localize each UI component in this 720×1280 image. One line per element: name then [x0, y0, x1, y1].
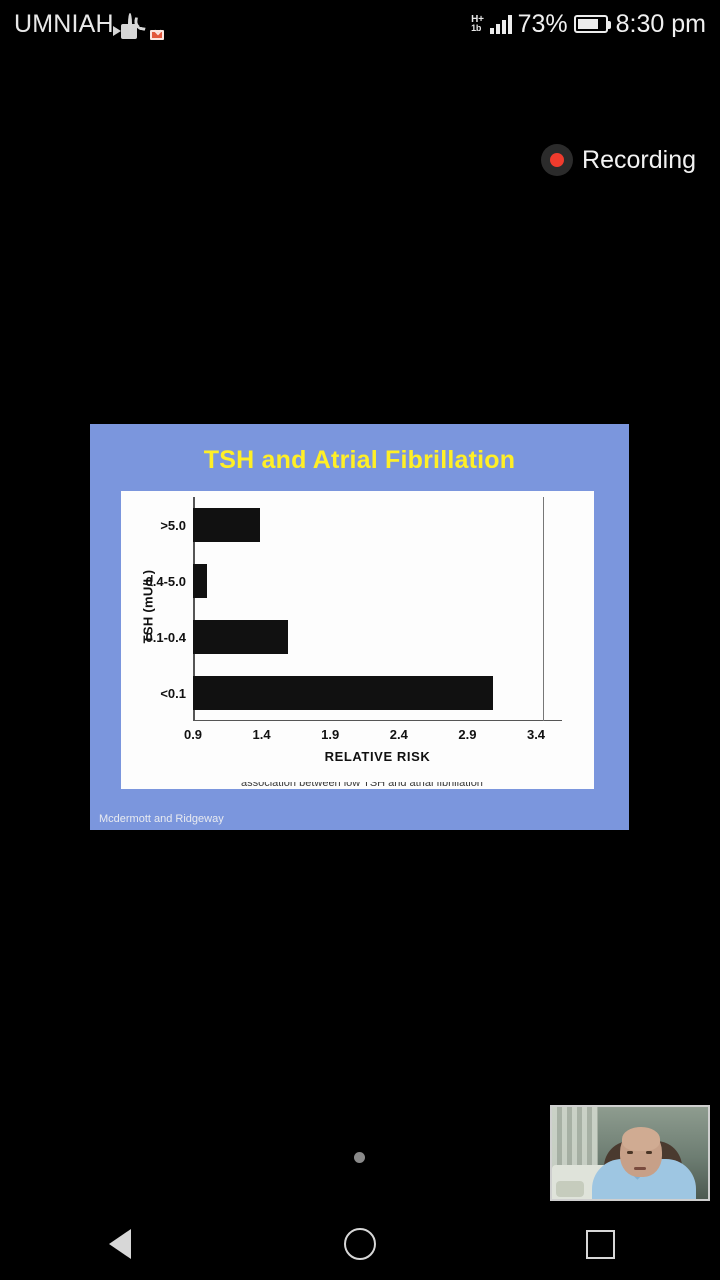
chart-panel: TSH (mU/L) >5.0 0.4-5.0 0.1-0.4 <0.1: [121, 491, 594, 789]
android-navigation-bar: [0, 1208, 720, 1280]
chart-x-tick: 2.9: [458, 727, 476, 742]
recording-label: Recording: [582, 146, 696, 175]
recents-button[interactable]: [540, 1208, 660, 1280]
chart-bar: [193, 676, 493, 710]
chart-x-tick: 0.9: [184, 727, 202, 742]
slide-credit: Mcdermott and Ridgeway: [99, 813, 224, 825]
chart-x-tick-labels: 0.9 1.4 1.9 2.4 2.9 3.4: [193, 727, 562, 747]
back-button[interactable]: [60, 1208, 180, 1280]
network-type-icon: H+ 1b: [471, 15, 483, 33]
chart-bar: [193, 508, 260, 542]
chart-x-tick: 2.4: [390, 727, 408, 742]
page-indicator-dot: [354, 1152, 365, 1163]
status-bar: UMNIAH H+ 1b 73% 8:30 pm: [0, 0, 720, 48]
chart-bar: [193, 620, 288, 654]
chart-x-axis-label: RELATIVE RISK: [193, 749, 562, 764]
chart-plot-area: >5.0 0.4-5.0 0.1-0.4 <0.1: [193, 497, 562, 721]
home-circle-icon: [344, 1228, 376, 1260]
chart-right-border-line: [543, 497, 545, 721]
chart-x-tick: 3.4: [527, 727, 545, 742]
chart-x-tick: 1.4: [253, 727, 271, 742]
chart-bar-row: 0.4-5.0: [193, 553, 207, 609]
chart-category-label: 0.1-0.4: [146, 630, 186, 645]
chart-category-label: 0.4-5.0: [146, 574, 186, 589]
battery-percent-label: 73%: [518, 10, 568, 39]
carrier-label: UMNIAH: [14, 10, 114, 39]
recording-indicator[interactable]: Recording: [541, 144, 696, 176]
status-bar-right: H+ 1b 73% 8:30 pm: [471, 10, 706, 39]
back-triangle-icon: [109, 1229, 131, 1259]
slide-cut-off-text: association between low TSH and atrial f…: [241, 782, 582, 789]
home-button[interactable]: [300, 1208, 420, 1280]
record-dot-icon: [541, 144, 573, 176]
recents-square-icon: [586, 1230, 615, 1259]
video-scene: [552, 1107, 708, 1199]
chart-bar-row: >5.0: [193, 497, 260, 553]
clock-label: 8:30 pm: [616, 10, 706, 39]
chart-bar-row: 0.1-0.4: [193, 609, 288, 665]
chart-x-tick: 1.9: [321, 727, 339, 742]
presentation-slide[interactable]: TSH and Atrial Fibrillation TSH (mU/L) >…: [90, 424, 629, 830]
signal-bars-icon: [490, 14, 512, 34]
chart-category-label: >5.0: [160, 518, 186, 533]
battery-icon: [574, 15, 608, 33]
chart-category-label: <0.1: [160, 686, 186, 701]
chart-y-axis-label: TSH (mU/L): [141, 532, 156, 682]
slide-title: TSH and Atrial Fibrillation: [90, 446, 629, 475]
status-bar-left: UMNIAH: [14, 10, 146, 39]
chart-bar: [193, 564, 207, 598]
chart-bar-row: <0.1: [193, 665, 493, 721]
self-view-video-thumbnail[interactable]: [550, 1105, 710, 1201]
